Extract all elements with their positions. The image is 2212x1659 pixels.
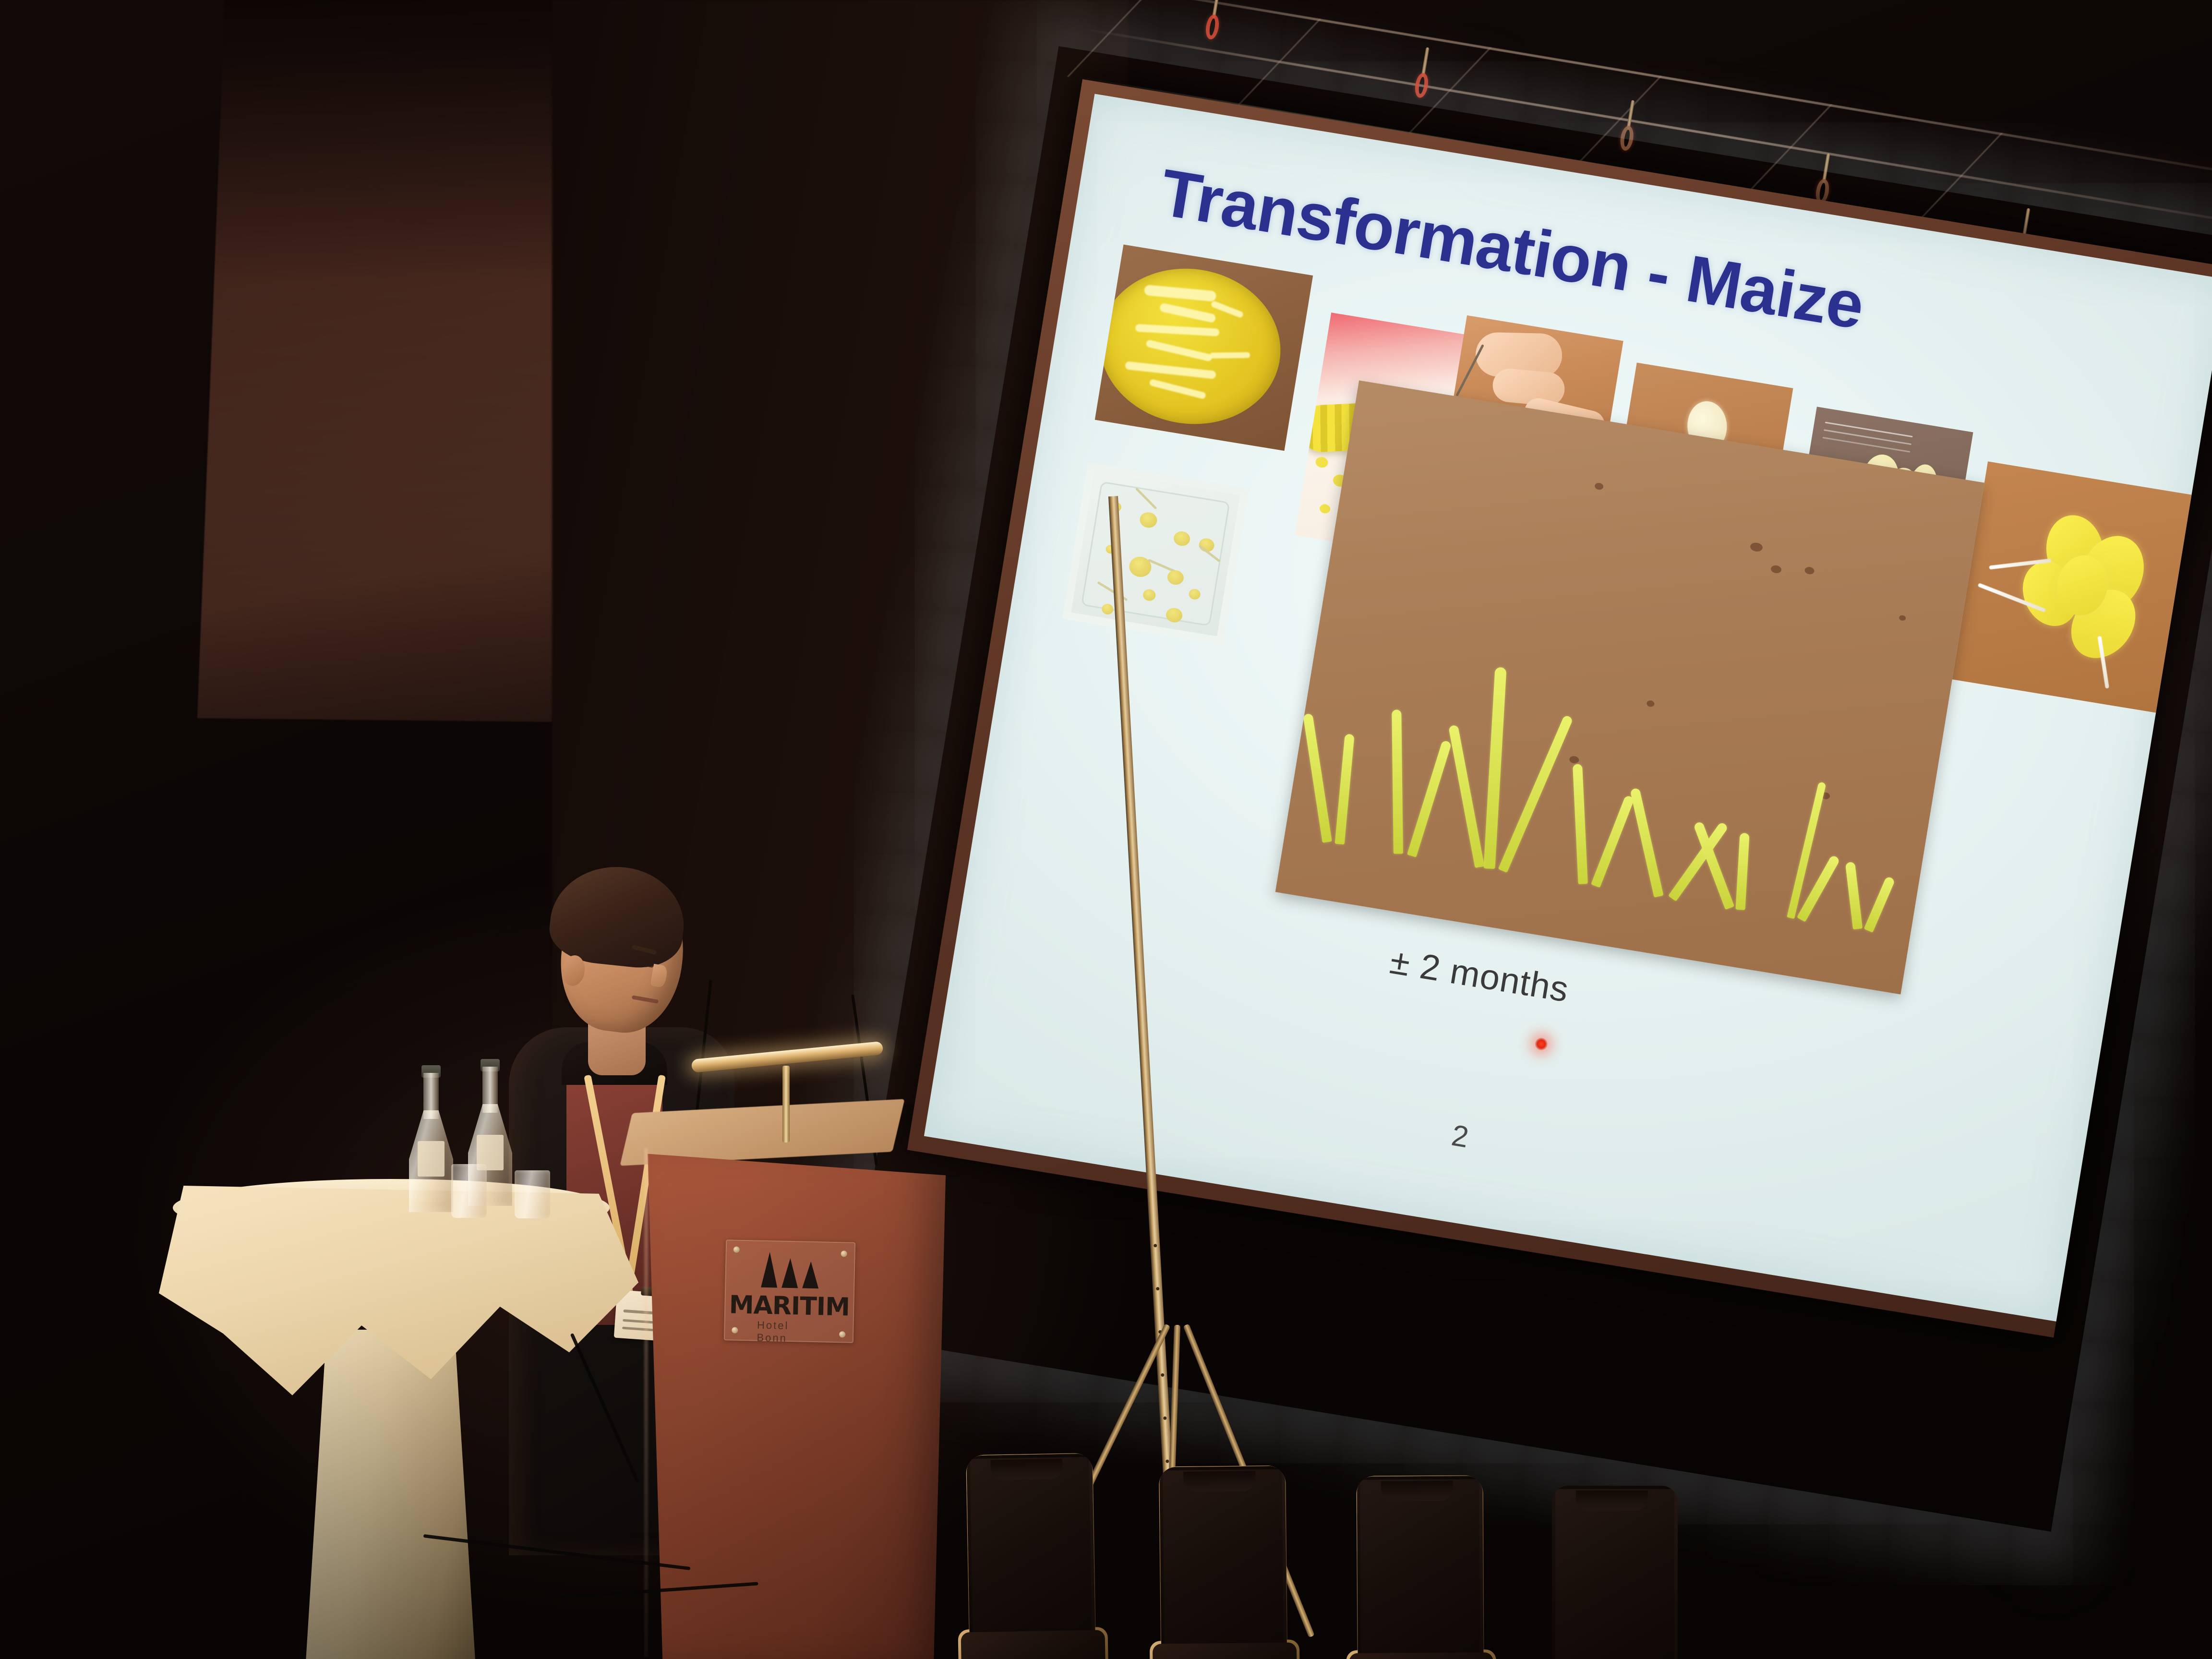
drinking-glass — [451, 1164, 487, 1218]
slide-image-embryogenic-callus — [1952, 461, 2197, 713]
stage-chair — [958, 1453, 1106, 1659]
rigging-hook-icon — [1618, 99, 1639, 155]
venue-logo-plaque: MARITIM Hotel Bonn — [724, 1239, 855, 1343]
slide-image-culture-tray-shoots — [1062, 462, 1249, 645]
water-bottle — [409, 1073, 453, 1212]
laser-pointer-dot — [1534, 1037, 1549, 1051]
stage-chair — [1543, 1486, 1687, 1659]
slide-image-regenerated-seedlings — [1275, 380, 1984, 994]
wall-panel-left — [197, 0, 580, 722]
slide-image-petri-dish-colonies — [1095, 244, 1313, 451]
venue-brand-sub: Hotel Bonn — [757, 1319, 821, 1346]
drinking-glass — [515, 1170, 550, 1218]
conference-hall-photo: Transformation - Maize — [0, 0, 2212, 1659]
lectern: MARITIM Hotel Bonn — [638, 1138, 946, 1659]
slide-caption-duration: ± 2 months — [1387, 940, 1572, 1010]
rigging-hook-icon — [1413, 47, 1434, 102]
cocktail-table — [144, 1186, 638, 1659]
lectern-body — [638, 1138, 946, 1659]
table-pillar — [302, 1330, 475, 1659]
rigging-hook-icon — [1203, 0, 1225, 43]
slide-page-number: 2 — [1449, 1118, 1471, 1155]
maritim-sails-icon — [761, 1252, 819, 1288]
venue-brand-name: MARITIM — [729, 1290, 850, 1322]
stage-chair — [1151, 1466, 1298, 1659]
stage-chair — [1348, 1476, 1494, 1659]
